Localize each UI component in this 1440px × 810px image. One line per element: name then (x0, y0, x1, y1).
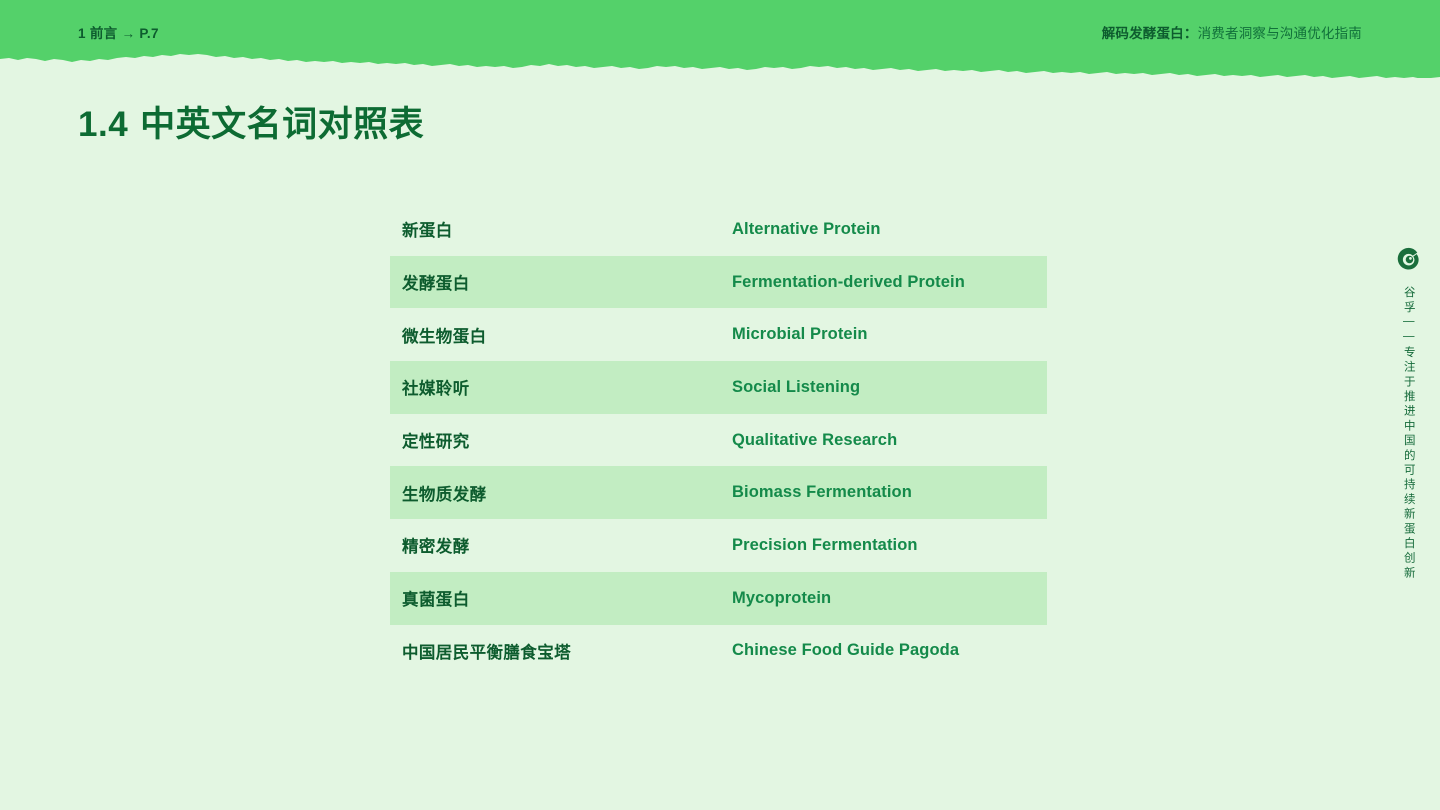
document-title: 解码发酵蛋白：消费者洞察与沟通优化指南 (1102, 22, 1362, 42)
glossary-term-cn: 发酵蛋白 (390, 270, 732, 294)
glossary-term-cn: 中国居民平衡膳食宝塔 (390, 639, 732, 663)
table-row[interactable]: 社媒聆听Social Listening (390, 361, 1047, 414)
glossary-term-en: Chinese Food Guide Pagoda (732, 641, 1047, 660)
page-title: 1.4中英文名词对照表 (78, 96, 424, 147)
glossary-term-en: Alternative Protein (732, 220, 1047, 239)
table-row[interactable]: 定性研究Qualitative Research (390, 414, 1047, 467)
glossary-term-en: Mycoprotein (732, 589, 1047, 608)
table-row[interactable]: 真菌蛋白Mycoprotein (390, 572, 1047, 625)
page-title-text: 中英文名词对照表 (140, 105, 424, 144)
table-row[interactable]: 生物质发酵Biomass Fermentation (390, 466, 1047, 519)
glossary-term-cn: 社媒聆听 (390, 375, 732, 399)
gufu-spiral-g-logo-icon (1395, 246, 1421, 272)
glossary-table: 新蛋白Alternative Protein发酵蛋白Fermentation-d… (390, 203, 1047, 677)
table-row[interactable]: 新蛋白Alternative Protein (390, 203, 1047, 256)
glossary-term-cn: 生物质发酵 (390, 481, 732, 505)
table-row[interactable]: 精密发酵Precision Fermentation (390, 519, 1047, 572)
glossary-term-en: Qualitative Research (732, 431, 1047, 450)
glossary-term-en: Biomass Fermentation (732, 483, 1047, 502)
glossary-term-en: Fermentation-derived Protein (732, 273, 1047, 292)
glossary-term-en: Microbial Protein (732, 325, 1047, 344)
document-title-light: 消费者洞察与沟通优化指南 (1198, 26, 1362, 41)
header-band: 1 前言 → P.7 解码发酵蛋白：消费者洞察与沟通优化指南 (0, 0, 1440, 78)
document-title-strong: 解码发酵蛋白： (1102, 26, 1198, 41)
slide-page: 1 前言 → P.7 解码发酵蛋白：消费者洞察与沟通优化指南 1.4中英文名词对… (0, 0, 1440, 810)
brand-rail: 谷孚——专注于推进中国的可持续新蛋白创新 (1390, 246, 1426, 581)
breadcrumb[interactable]: 1 前言 → P.7 (78, 22, 159, 42)
page-title-number: 1.4 (78, 105, 128, 144)
glossary-term-cn: 真菌蛋白 (390, 586, 732, 610)
glossary-term-cn: 精密发酵 (390, 533, 732, 557)
table-row[interactable]: 发酵蛋白Fermentation-derived Protein (390, 256, 1047, 309)
brand-tagline: 谷孚——专注于推进中国的可持续新蛋白创新 (1402, 286, 1414, 581)
glossary-term-cn: 微生物蛋白 (390, 323, 732, 347)
table-row[interactable]: 微生物蛋白Microbial Protein (390, 308, 1047, 361)
table-row[interactable]: 中国居民平衡膳食宝塔Chinese Food Guide Pagoda (390, 625, 1047, 678)
glossary-term-en: Social Listening (732, 378, 1047, 397)
glossary-term-cn: 定性研究 (390, 428, 732, 452)
header-row: 1 前言 → P.7 解码发酵蛋白：消费者洞察与沟通优化指南 (0, 0, 1440, 64)
glossary-term-cn: 新蛋白 (390, 217, 732, 241)
glossary-term-en: Precision Fermentation (732, 536, 1047, 555)
